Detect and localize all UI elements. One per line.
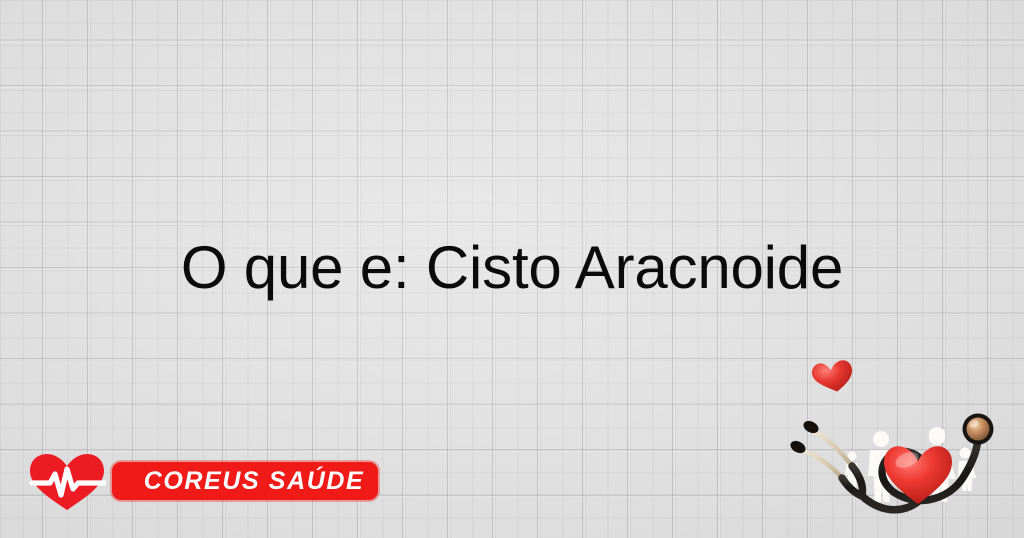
medical-collage-illustration bbox=[782, 350, 1024, 538]
brand-badge: COREUS SAÚDE bbox=[112, 462, 378, 500]
brand-logo[interactable]: COREUS SAÚDE bbox=[28, 450, 358, 514]
heart-pulse-icon bbox=[28, 452, 106, 512]
brand-name-label: COREUS SAÚDE bbox=[112, 462, 378, 500]
small-heart-shape bbox=[810, 357, 856, 396]
page-title: O que e: Cisto Aracnoide bbox=[0, 236, 1024, 300]
stethoscope-chestpiece bbox=[963, 414, 994, 445]
stethoscope-binaural bbox=[801, 431, 852, 478]
stethoscope-earpieces bbox=[788, 418, 820, 455]
slide-canvas: O que e: Cisto Aracnoide COREUS SAÚDE bbox=[0, 0, 1024, 538]
